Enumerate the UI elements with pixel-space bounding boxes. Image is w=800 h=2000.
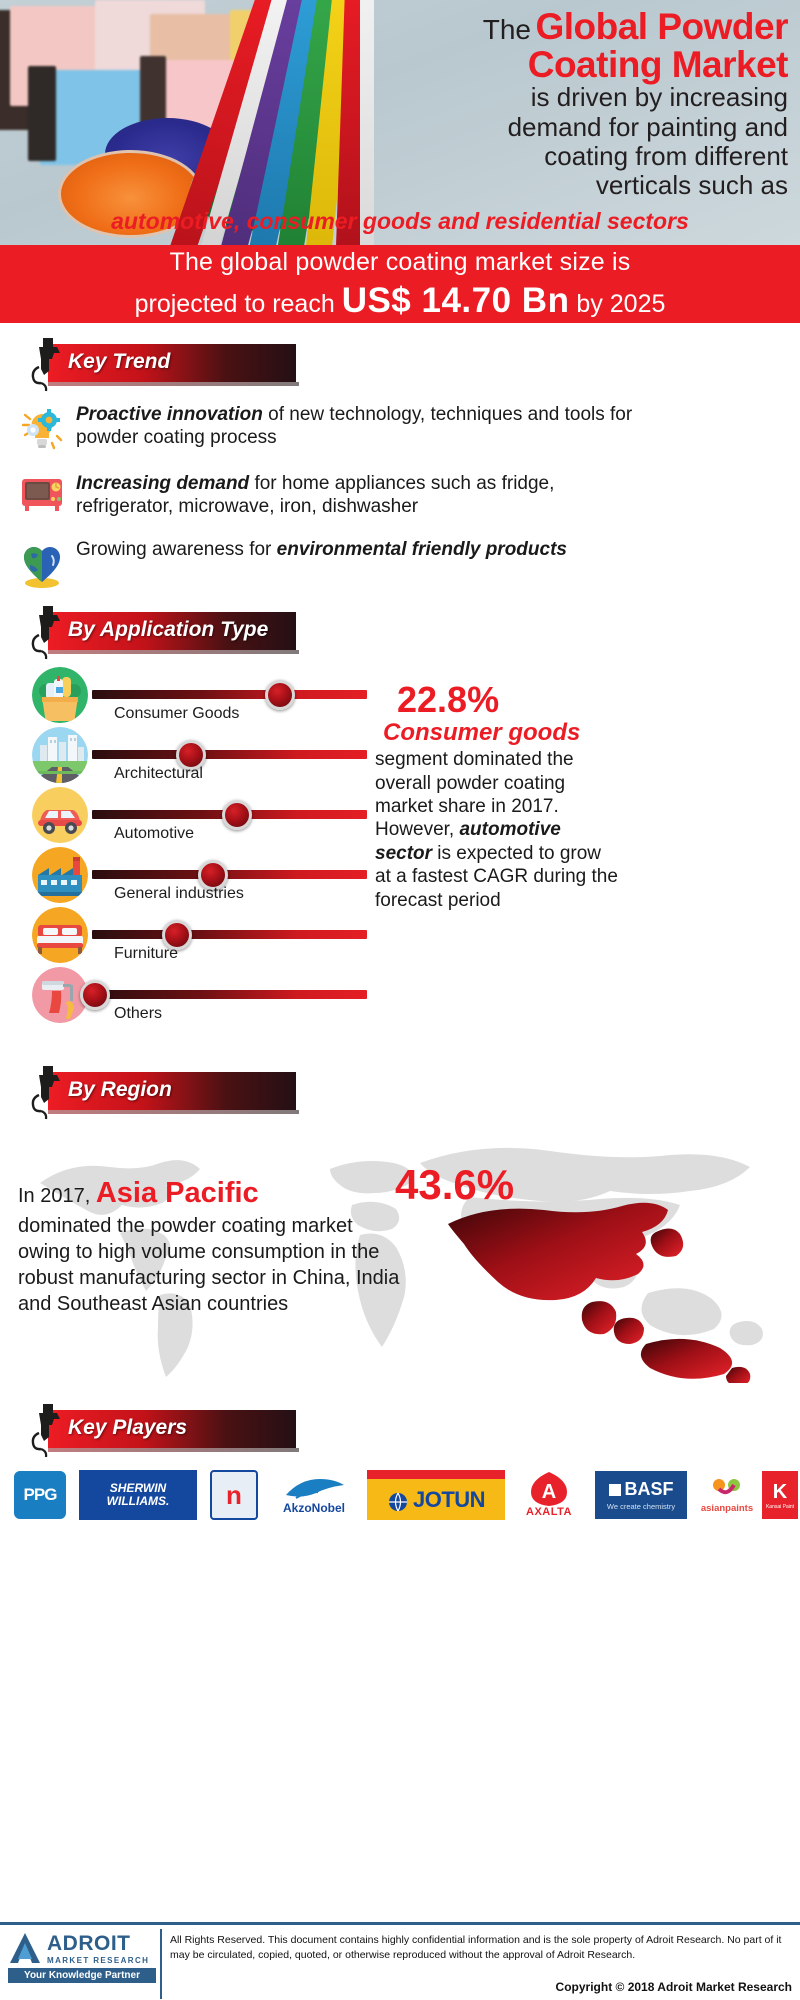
asia-pacific-highlight	[440, 1198, 780, 1383]
akzonobel-mark-icon	[282, 1475, 346, 1501]
hero-section: The Global Powder Coating Market is driv…	[0, 0, 800, 245]
by-region-label: By Region	[68, 1078, 172, 1102]
hero-headline: The Global Powder Coating Market is driv…	[388, 8, 788, 200]
logo-nippon: n	[208, 1467, 260, 1523]
key-players-label: Key Players	[68, 1416, 187, 1440]
banner-suffix: by 2025	[569, 290, 665, 318]
trend-pre: Growing awareness for	[76, 539, 277, 560]
trend-item: Increasing demand for home appliances su…	[14, 472, 654, 518]
trend-text: Increasing demand for home appliances su…	[70, 472, 654, 518]
hero-title-line1: Global Powder	[535, 6, 788, 47]
section-header-key-players: Key Players	[20, 1407, 295, 1451]
axalta-mark-icon: A	[528, 1472, 570, 1506]
hero-sub-line1: is driven by increasing	[388, 83, 788, 112]
slider-track	[92, 870, 367, 879]
trend-item: Proactive innovation of new technology, …	[14, 403, 654, 452]
region-text: In 2017, Asia Pacific dominated the powd…	[18, 1175, 408, 1317]
hero-sub-line4: verticals such as	[388, 171, 788, 200]
hero-title-line2: Coating Market	[388, 46, 788, 84]
by-application-label: By Application Type	[68, 618, 268, 642]
consumer-goods-headline: Consumer goods	[375, 719, 620, 747]
application-label: Furniture	[114, 945, 178, 963]
microwave-icon	[14, 472, 70, 515]
logo-basf-tagline: We create chemistry	[607, 1502, 675, 1511]
application-row: Consumer Goods	[22, 667, 372, 727]
slider-knob[interactable]	[80, 980, 110, 1010]
hero-sub-line2: demand for painting and	[388, 113, 788, 142]
application-label: Architectural	[114, 765, 203, 783]
slider-track	[92, 750, 367, 759]
jotun-globe-icon	[387, 1488, 409, 1512]
logo-ppg: PPG	[12, 1467, 68, 1523]
section-header-by-region: By Region	[20, 1069, 295, 1113]
logo-ppg-text: PPG	[24, 1485, 57, 1505]
banner-prefix: projected to reach	[135, 290, 342, 318]
trend-bold: Proactive innovation	[76, 404, 263, 425]
spray-gun-icon	[30, 337, 64, 395]
trend-item: Growing awareness for environmental frie…	[14, 538, 654, 589]
application-type-section: Consumer Goods	[0, 661, 800, 1051]
slider-track	[92, 930, 367, 939]
trend-text: Proactive innovation of new technology, …	[70, 403, 654, 449]
application-row: Others	[22, 967, 372, 1027]
spray-gun-icon	[30, 1403, 64, 1461]
bed-icon	[32, 907, 88, 963]
trend-bold: Increasing demand	[76, 473, 249, 494]
logo-akzonobel-text: AkzoNobel	[283, 1501, 345, 1515]
logo-sherwin-williams: SHERWIN WILLIAMS.	[78, 1467, 198, 1523]
application-body-text: segment dominated the overall powder coa…	[375, 748, 620, 912]
consumer-goods-share: 22.8%	[375, 679, 620, 721]
application-label: Others	[114, 1005, 162, 1023]
hero-the: The	[483, 14, 531, 45]
logo-kansai-text: Kansai Paint	[766, 1504, 794, 1510]
application-commentary: 22.8% Consumer goods segment dominated t…	[375, 679, 620, 912]
application-row: Automotive	[22, 787, 372, 847]
adroit-mark-icon	[8, 1931, 42, 1965]
application-row: General industries	[22, 847, 372, 907]
key-players-logo-row: PPG SHERWIN WILLIAMS. n AkzoNobel JOTUN	[0, 1467, 800, 1529]
application-slider-list: Consumer Goods	[22, 667, 372, 1027]
adroit-logo: ADROIT MARKET RESEARCH Your Knowledge Pa…	[8, 1931, 156, 1983]
region-pre: In 2017,	[18, 1185, 96, 1207]
market-size-banner: The global powder coating market size is…	[0, 245, 800, 323]
adroit-brand-sub: MARKET RESEARCH	[47, 1956, 149, 1965]
spray-gun-icon	[30, 605, 64, 663]
grocery-bag-icon	[32, 667, 88, 723]
asian-paints-mark-icon	[707, 1477, 747, 1503]
logo-axalta: A AXALTA	[516, 1467, 582, 1523]
banner-line-1: The global powder coating market size is	[169, 248, 630, 277]
logo-basf-text: BASF	[625, 1479, 674, 1500]
logo-jotun: JOTUN	[366, 1467, 506, 1523]
key-trend-list: Proactive innovation of new technology, …	[14, 403, 654, 589]
logo-jotun-text: JOTUN	[413, 1487, 485, 1513]
logo-nippon-text: n	[226, 1480, 242, 1511]
application-label: General industries	[114, 885, 244, 903]
adroit-brand: ADROIT	[47, 1932, 149, 1956]
application-label: Consumer Goods	[114, 705, 239, 723]
logo-akzonobel: AkzoNobel	[268, 1467, 360, 1523]
logo-asian-paints: asianpaints	[696, 1467, 758, 1523]
banner-value: US$ 14.70 Bn	[342, 281, 570, 320]
logo-basf: BASF We create chemistry	[594, 1467, 688, 1523]
footer: ADROIT MARKET RESEARCH Your Knowledge Pa…	[0, 1922, 800, 2000]
city-road-icon	[32, 727, 88, 783]
logo-sherwin-text: SHERWIN WILLIAMS.	[79, 1482, 197, 1508]
lightbulb-gear-icon	[14, 403, 70, 452]
svg-text:A: A	[542, 1481, 556, 1503]
section-header-key-trend: Key Trend	[20, 341, 295, 385]
application-row: Architectural	[22, 727, 372, 787]
banner-line-2: projected to reach US$ 14.70 Bn by 2025	[135, 281, 666, 321]
application-label: Automotive	[114, 825, 194, 843]
hero-sub-line3: coating from different	[388, 142, 788, 171]
slider-knob[interactable]	[265, 680, 295, 710]
spray-gun-icon	[30, 1065, 64, 1123]
trend-text: Growing awareness for environmental frie…	[70, 538, 567, 561]
footer-copyright: Copyright © 2018 Adroit Market Research	[556, 1980, 792, 1994]
application-row: Furniture	[22, 907, 372, 967]
hero-verticals-line: automotive, consumer goods and residenti…	[0, 208, 800, 235]
logo-asian-paints-text: asianpaints	[701, 1503, 753, 1514]
factory-icon	[32, 847, 88, 903]
section-header-by-application: By Application Type	[20, 609, 295, 653]
trend-bold: environmental friendly products	[277, 539, 567, 560]
logo-axalta-text: AXALTA	[526, 1506, 572, 1518]
eco-heart-globe-icon	[14, 538, 70, 589]
key-trend-label: Key Trend	[68, 350, 170, 374]
car-icon	[32, 787, 88, 843]
region-body: dominated the powder coating market owin…	[18, 1215, 399, 1315]
footer-disclaimer: All Rights Reserved. This document conta…	[170, 1933, 790, 1963]
slider-track	[92, 690, 367, 699]
adroit-tagline: Your Knowledge Partner	[8, 1968, 156, 1983]
region-highlight: Asia Pacific	[96, 1177, 259, 1209]
slider-track	[92, 990, 367, 999]
region-section: In 2017, Asia Pacific dominated the powd…	[0, 1113, 800, 1383]
logo-kansai-paint: K Kansai Paint	[760, 1467, 800, 1523]
slider-knob[interactable]	[222, 800, 252, 830]
footer-divider	[160, 1929, 162, 1999]
